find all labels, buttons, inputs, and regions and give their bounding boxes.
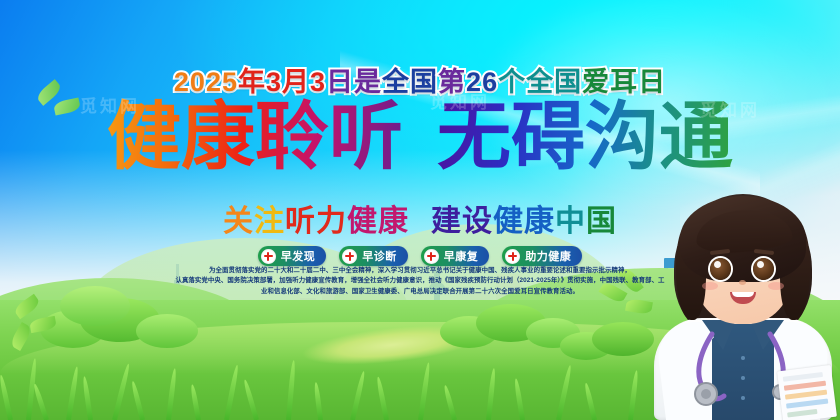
headline-seg: 第 — [438, 67, 466, 97]
headline-seg: 月 — [282, 67, 310, 97]
main-title: 健康聆听 健康聆听 无碍沟通 无碍沟通 — [0, 100, 840, 174]
title-right: 无碍沟通 — [437, 95, 733, 178]
red-cross-icon — [261, 249, 276, 264]
pill-label: 早发现 — [281, 248, 316, 264]
pill-early-rehab[interactable]: 早康复 — [421, 246, 490, 266]
pill-label: 助力健康 — [525, 248, 571, 264]
headline-seg: 日是 — [326, 67, 382, 97]
pill-early-detection[interactable]: 早发现 — [258, 246, 327, 266]
body-line-3: 业和信息化部、文化和旅游部、国家卫生健康委、广电总局决定联合开展第二十六次全国爱… — [150, 287, 690, 297]
pill-early-diagnosis[interactable]: 早诊断 — [339, 246, 408, 266]
headline-seg: 3 — [310, 67, 326, 97]
headline-date: 2025年3月3日是全国第26个全国爱耳日 — [0, 60, 840, 99]
headline-seg: 全国 — [382, 67, 438, 97]
body-line-2: 认真落实党中央、国务院决策部署，加强听力健康宣传教育，增强全社会听力健康意识，推… — [150, 276, 690, 286]
title-left: 健康聆听 — [107, 95, 403, 178]
headline-seg: 3 — [266, 67, 282, 97]
headline-seg: 年 — [238, 67, 266, 97]
headline-seg: 个全国 — [498, 67, 582, 97]
chart-paper — [777, 365, 837, 420]
red-cross-icon — [505, 249, 520, 264]
poster-canvas: 2025年3月3日是全国第26个全国爱耳日 健康聆听 健康聆听 无碍沟通 无碍沟… — [0, 0, 840, 420]
red-cross-icon — [424, 249, 439, 264]
subtitle-right: 建设健康中国 — [431, 205, 617, 238]
body-paragraph: 为全面贯彻落实党的二十大和二十届二中、三中全会精神，深入学习贯彻习近平总书记关于… — [150, 266, 690, 297]
doctor-illustration — [650, 188, 836, 420]
subtitle-left: 关注听力健康 — [223, 205, 409, 238]
pill-label: 早诊断 — [362, 248, 397, 264]
red-cross-icon — [342, 249, 357, 264]
headline-seg: 26 — [466, 67, 498, 97]
headline-seg: 2025 — [174, 67, 238, 97]
pill-boost-health[interactable]: 助力健康 — [502, 246, 582, 266]
body-line-1: 为全面贯彻落实党的二十大和二十届二中、三中全会精神，深入学习贯彻习近平总书记关于… — [150, 266, 690, 276]
pill-label: 早康复 — [444, 248, 479, 264]
headline-seg: 爱耳日 — [582, 67, 666, 97]
